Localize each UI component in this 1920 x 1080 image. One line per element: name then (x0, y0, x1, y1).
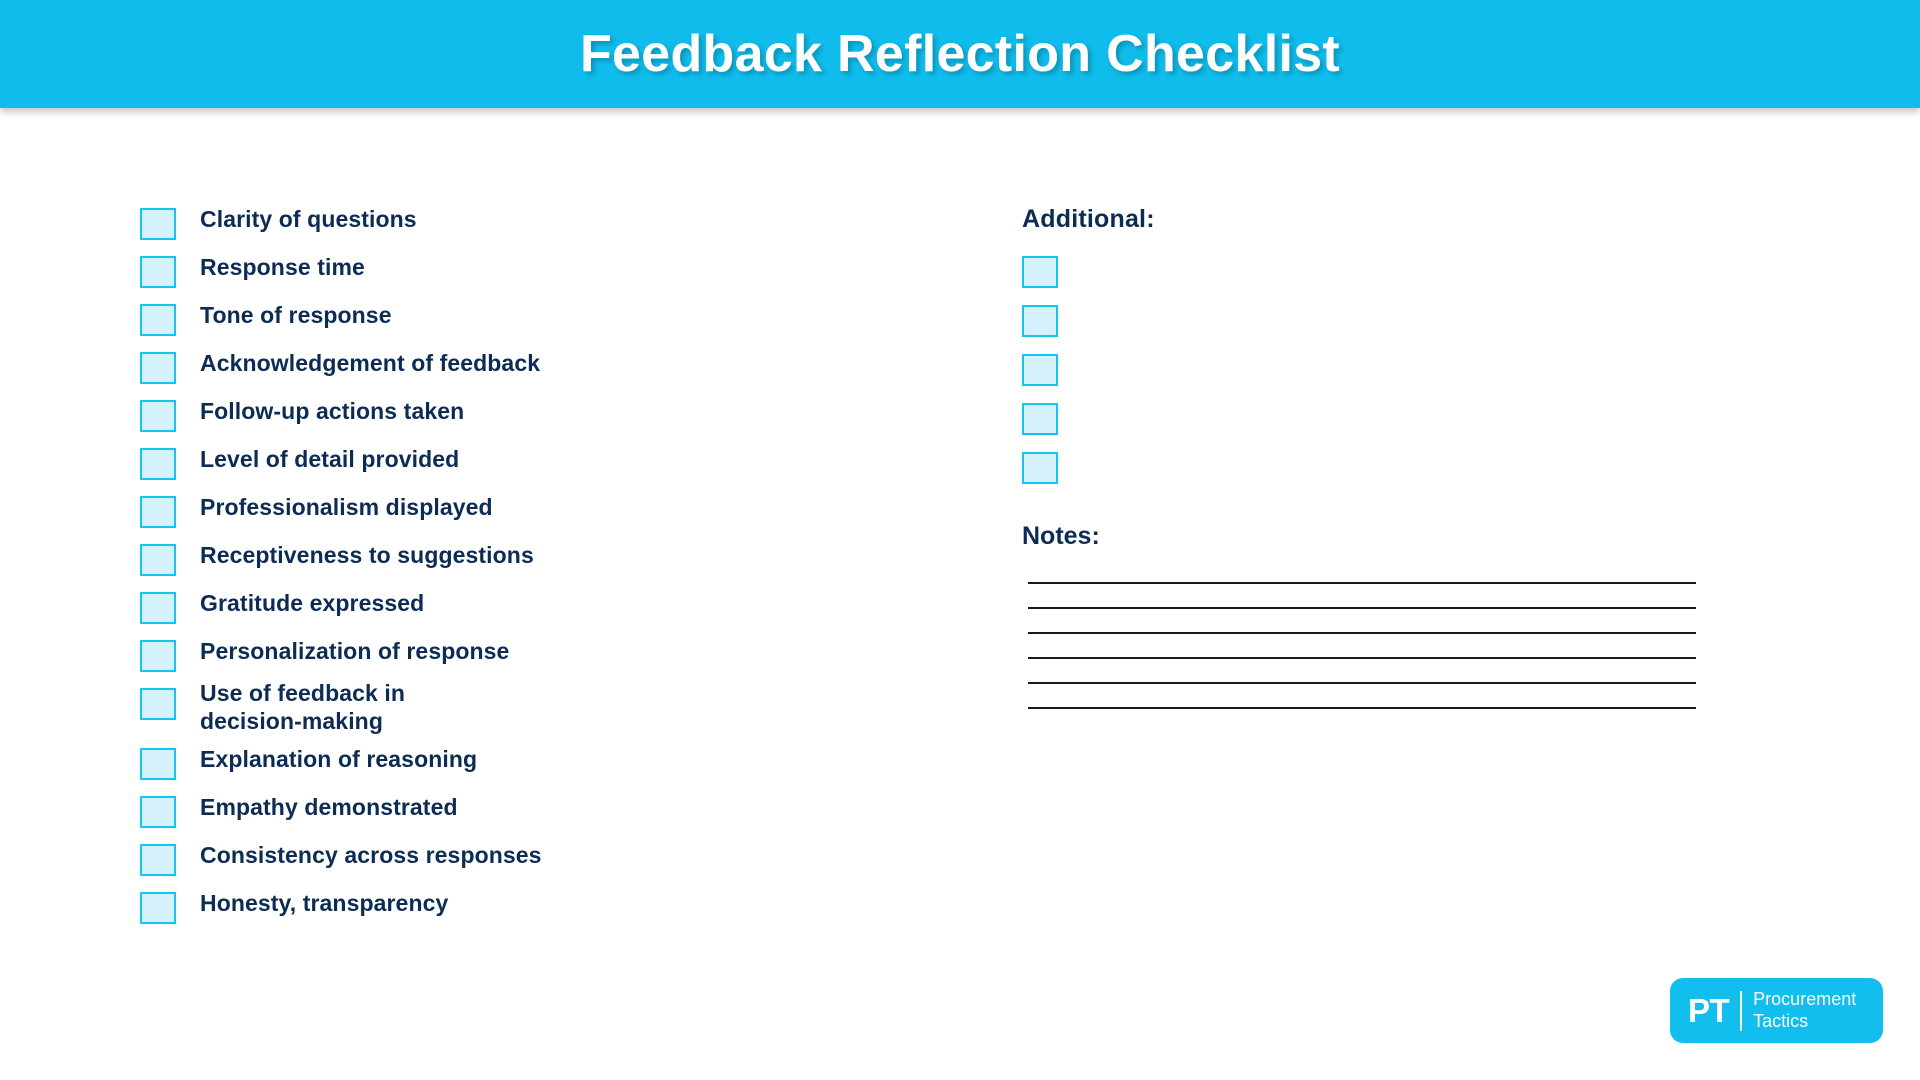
additional-heading: Additional: (1022, 205, 1742, 234)
checklist-column: Clarity of questions Response time Tone … (140, 205, 760, 937)
checklist-item-label: Response time (200, 253, 365, 282)
note-line[interactable] (1028, 657, 1696, 659)
checkbox-icon[interactable] (140, 448, 176, 480)
logo-word-top: Procurement (1753, 989, 1856, 1010)
checkbox-icon[interactable] (1022, 256, 1058, 288)
notes-heading: Notes: (1022, 522, 1742, 551)
checkbox-icon[interactable] (140, 544, 176, 576)
note-line[interactable] (1028, 707, 1696, 709)
checklist-row[interactable]: Tone of response (140, 301, 760, 339)
checklist-row[interactable]: Professionalism displayed (140, 493, 760, 531)
note-line[interactable] (1028, 682, 1696, 684)
page-content: Clarity of questions Response time Tone … (0, 108, 1920, 1080)
checkbox-icon[interactable] (140, 892, 176, 924)
checklist-row[interactable]: Acknowledgement of feedback (140, 349, 760, 387)
checklist-item-label: Level of detail provided (200, 445, 459, 474)
checklist-row[interactable]: Explanation of reasoning (140, 745, 760, 783)
checklist-item-label: Use of feedback in decision-making (200, 679, 500, 735)
checkbox-icon[interactable] (140, 352, 176, 384)
checkbox-icon[interactable] (140, 844, 176, 876)
note-line[interactable] (1028, 607, 1696, 609)
checklist-item-label: Clarity of questions (200, 205, 417, 234)
right-column: Additional: Notes: (1022, 205, 1742, 732)
checkbox-icon[interactable] (140, 688, 176, 720)
checklist-item-label: Gratitude expressed (200, 589, 424, 618)
checklist-row[interactable]: Clarity of questions (140, 205, 760, 243)
checklist-row[interactable]: Follow-up actions taken (140, 397, 760, 435)
checklist-item-label: Explanation of reasoning (200, 745, 477, 774)
checklist-item-label: Honesty, transparency (200, 889, 448, 918)
procurement-tactics-logo: PT Procurement Tactics (1670, 978, 1883, 1043)
checklist-row[interactable]: Response time (140, 253, 760, 291)
checklist-page: Feedback Reflection Checklist Clarity of… (0, 0, 1920, 1080)
checklist-item-label: Receptiveness to suggestions (200, 541, 534, 570)
note-line[interactable] (1028, 632, 1696, 634)
checkbox-icon[interactable] (1022, 305, 1058, 337)
checklist-item-label: Empathy demonstrated (200, 793, 458, 822)
checkbox-icon[interactable] (140, 208, 176, 240)
checkbox-icon[interactable] (140, 592, 176, 624)
checklist-row[interactable]: Honesty, transparency (140, 889, 760, 927)
checklist-row[interactable]: Level of detail provided (140, 445, 760, 483)
logo-initials: PT (1688, 994, 1729, 1027)
checklist-item-label: Personalization of response (200, 637, 509, 666)
checkbox-icon[interactable] (1022, 452, 1058, 484)
checkbox-icon[interactable] (140, 400, 176, 432)
checklist-item-label: Professionalism displayed (200, 493, 493, 522)
checklist-row[interactable]: Gratitude expressed (140, 589, 760, 627)
logo-wordmark: Procurement Tactics (1753, 989, 1856, 1031)
checkbox-icon[interactable] (1022, 354, 1058, 386)
header-banner: Feedback Reflection Checklist (0, 0, 1920, 108)
checkbox-icon[interactable] (140, 496, 176, 528)
page-title: Feedback Reflection Checklist (580, 24, 1340, 84)
checklist-row[interactable]: Use of feedback in decision-making (140, 685, 760, 735)
checkbox-icon[interactable] (1022, 403, 1058, 435)
checklist-item-label: Acknowledgement of feedback (200, 349, 540, 378)
checkbox-icon[interactable] (140, 640, 176, 672)
note-line[interactable] (1028, 582, 1696, 584)
checkbox-icon[interactable] (140, 304, 176, 336)
logo-word-bottom: Tactics (1753, 1011, 1856, 1032)
checklist-item-label: Follow-up actions taken (200, 397, 464, 426)
logo-divider-icon (1740, 991, 1742, 1031)
checklist-item-label: Consistency across responses (200, 841, 542, 870)
notes-lines-group (1028, 582, 1696, 709)
checkbox-icon[interactable] (140, 256, 176, 288)
checklist-row[interactable]: Receptiveness to suggestions (140, 541, 760, 579)
checkbox-icon[interactable] (140, 748, 176, 780)
checklist-row[interactable]: Personalization of response (140, 637, 760, 675)
checklist-row[interactable]: Empathy demonstrated (140, 793, 760, 831)
checklist-item-label: Tone of response (200, 301, 392, 330)
checkbox-icon[interactable] (140, 796, 176, 828)
checklist-row[interactable]: Consistency across responses (140, 841, 760, 879)
additional-checkbox-group (1022, 256, 1742, 484)
